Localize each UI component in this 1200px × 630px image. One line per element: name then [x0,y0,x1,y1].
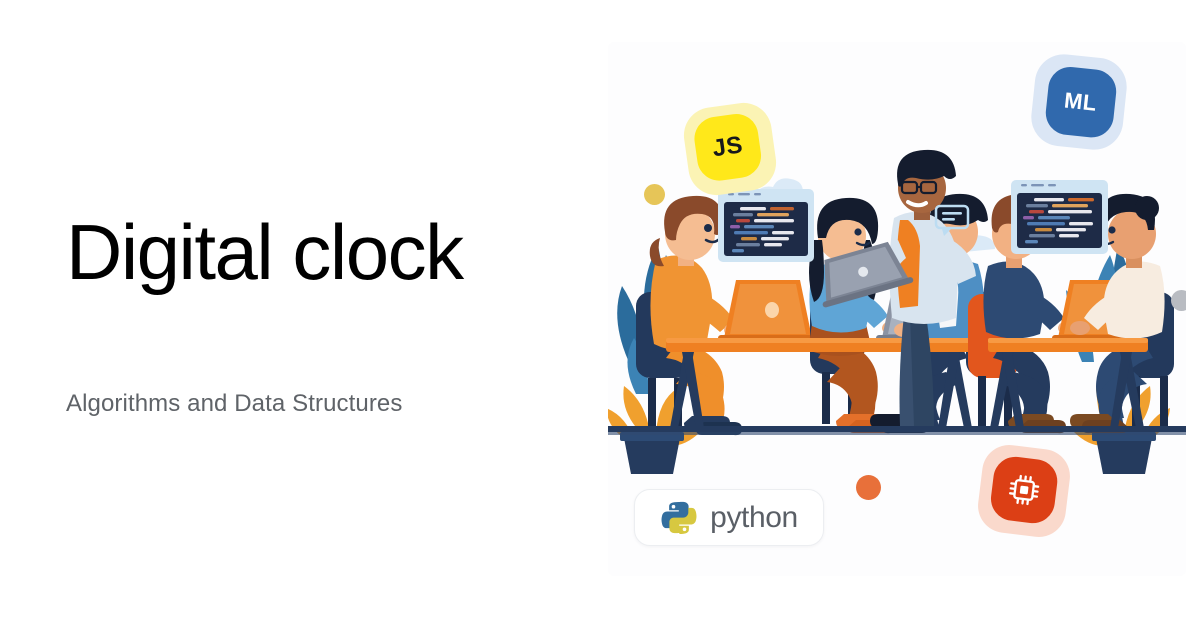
page-title: Digital clock [66,212,463,294]
orange-dot [856,475,881,500]
cpu-chip-icon [1005,471,1043,509]
gold-dot [644,184,665,205]
python-logo-icon [660,499,698,537]
code-window-left-graphic [718,189,814,262]
ml-badge: ML [1028,51,1129,152]
code-window-right-graphic [1011,180,1108,254]
ml-badge-core: ML [1043,65,1118,140]
js-badge: JS [680,99,779,198]
grey-dot [1171,290,1186,311]
js-badge-label: JS [711,131,745,163]
page-subtitle: Algorithms and Data Structures [66,390,402,418]
chip-badge [975,442,1073,540]
chip-badge-core [988,454,1059,525]
python-pill-label: python [710,503,798,533]
illustration-panel: JS ML [608,42,1186,576]
ml-badge-label: ML [1063,88,1098,117]
hero-card: Digital clock Algorithms and Data Struct… [0,0,1200,630]
js-badge-core: JS [692,111,764,183]
python-pill: python [634,489,824,546]
hero-text-column: Digital clock Algorithms and Data Struct… [66,0,566,630]
